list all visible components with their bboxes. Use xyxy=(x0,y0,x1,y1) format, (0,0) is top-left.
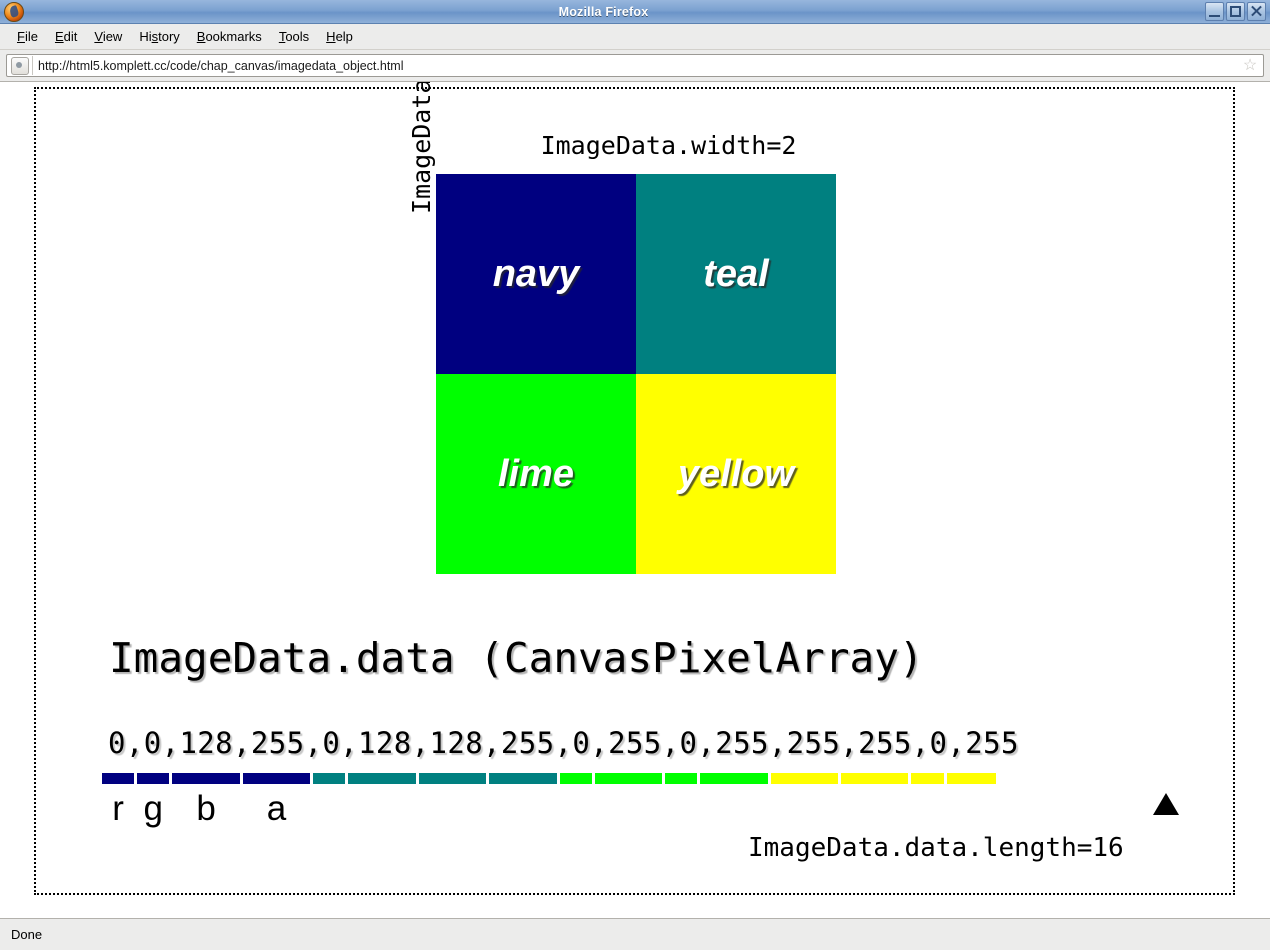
byte-segment xyxy=(489,773,556,784)
browser-window: Mozilla Firefox File Edit View History B… xyxy=(0,0,1270,950)
close-button[interactable] xyxy=(1247,2,1266,21)
minimize-button[interactable] xyxy=(1205,2,1224,21)
channel-label-r: r xyxy=(102,789,134,829)
title-bar: Mozilla Firefox xyxy=(0,0,1270,24)
pixel-cell-navy: navy xyxy=(436,174,636,374)
menu-item-file[interactable]: File xyxy=(9,26,47,47)
status-bar: Done xyxy=(0,918,1270,950)
globe-icon xyxy=(11,57,29,75)
byte-segment xyxy=(102,773,134,784)
byte-segment xyxy=(243,773,310,784)
star-icon[interactable]: ☆ xyxy=(1241,57,1259,75)
window-title: Mozilla Firefox xyxy=(2,5,1205,19)
channel-label-b: b xyxy=(172,789,239,829)
byte-segment xyxy=(137,773,169,784)
byte-segment xyxy=(595,773,662,784)
channel-label-g: g xyxy=(137,789,169,829)
menu-item-view[interactable]: View xyxy=(86,26,131,47)
channel-label-a: a xyxy=(243,789,310,829)
pixel-cell-teal: teal xyxy=(636,174,836,374)
menu-item-history[interactable]: History xyxy=(131,26,188,47)
pixel-cell-lime: lime xyxy=(436,374,636,574)
byte-segment xyxy=(560,773,592,784)
byte-segment xyxy=(172,773,239,784)
byte-segment xyxy=(841,773,908,784)
imagedata-width-text: ImageData.width=2 xyxy=(541,131,797,160)
imagedata-data-title: ImageData.data (CanvasPixelArray) xyxy=(109,634,924,682)
menu-item-help[interactable]: Help xyxy=(318,26,362,47)
byte-segment xyxy=(947,773,997,784)
byte-segment xyxy=(665,773,697,784)
navigation-toolbar: http://html5.komplett.cc/code/chap_canva… xyxy=(0,50,1270,82)
maximize-button[interactable] xyxy=(1226,2,1245,21)
pixel-grid: navy teal lime yellow xyxy=(436,174,836,574)
channel-label-row: rgba xyxy=(102,789,402,829)
window-controls xyxy=(1205,2,1266,21)
content-viewport: ImageData.width=2 ImageData.height=2 nav… xyxy=(0,82,1270,918)
url-separator xyxy=(32,56,33,75)
url-bar[interactable]: http://html5.komplett.cc/code/chap_canva… xyxy=(6,54,1264,77)
menu-item-bookmarks[interactable]: Bookmarks xyxy=(189,26,271,47)
byte-segment xyxy=(419,773,486,784)
byte-segment xyxy=(313,773,345,784)
imagedata-values-text: 0,0,128,255,0,128,128,255,0,255,0,255,25… xyxy=(108,726,1019,760)
triangle-up-icon xyxy=(1153,793,1179,815)
imagedata-height-label: ImageData.height=2 xyxy=(407,82,436,214)
status-text: Done xyxy=(11,927,42,942)
menu-item-tools[interactable]: Tools xyxy=(271,26,318,47)
byte-segment xyxy=(348,773,415,784)
byte-segment xyxy=(700,773,767,784)
pixel-cell-yellow: yellow xyxy=(636,374,836,574)
imagedata-length-label: ImageData.data.length=16 xyxy=(748,833,1124,863)
firefox-icon xyxy=(4,2,24,22)
menu-bar: File Edit View History Bookmarks Tools H… xyxy=(0,24,1270,50)
imagedata-width-label: ImageData.width=2 xyxy=(36,131,1233,160)
menu-item-edit[interactable]: Edit xyxy=(47,26,86,47)
url-input[interactable]: http://html5.komplett.cc/code/chap_canva… xyxy=(38,59,1241,73)
byte-segment xyxy=(771,773,838,784)
byte-segment xyxy=(911,773,943,784)
byte-color-bar xyxy=(102,773,1162,784)
page-frame: ImageData.width=2 ImageData.height=2 nav… xyxy=(34,87,1235,895)
